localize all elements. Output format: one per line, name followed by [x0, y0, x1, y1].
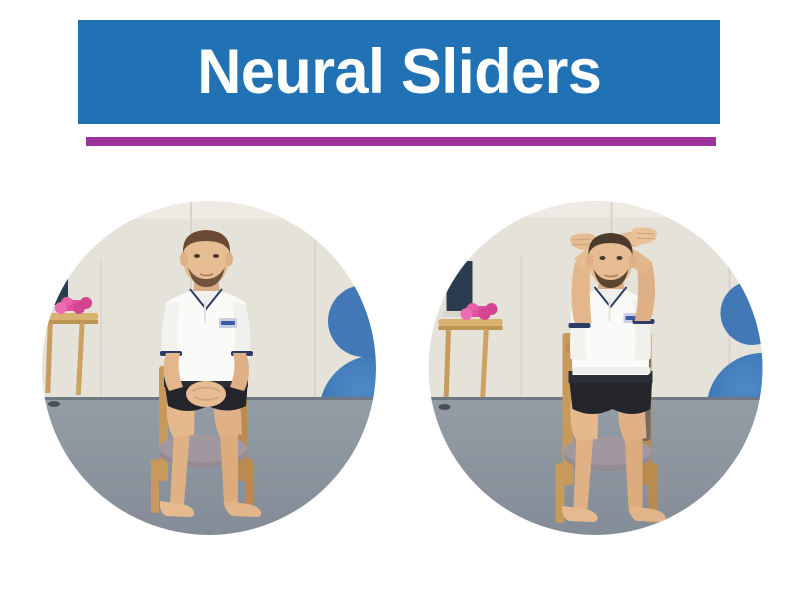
- figure-start-position: [42, 201, 376, 535]
- page-title: Neural Sliders: [197, 41, 601, 104]
- title-banner: Neural Sliders: [78, 20, 720, 124]
- figure-end-position: [428, 201, 763, 535]
- start-position-illustration: [42, 201, 376, 535]
- title-underline-rule: [86, 137, 716, 146]
- end-position-illustration: [428, 201, 763, 535]
